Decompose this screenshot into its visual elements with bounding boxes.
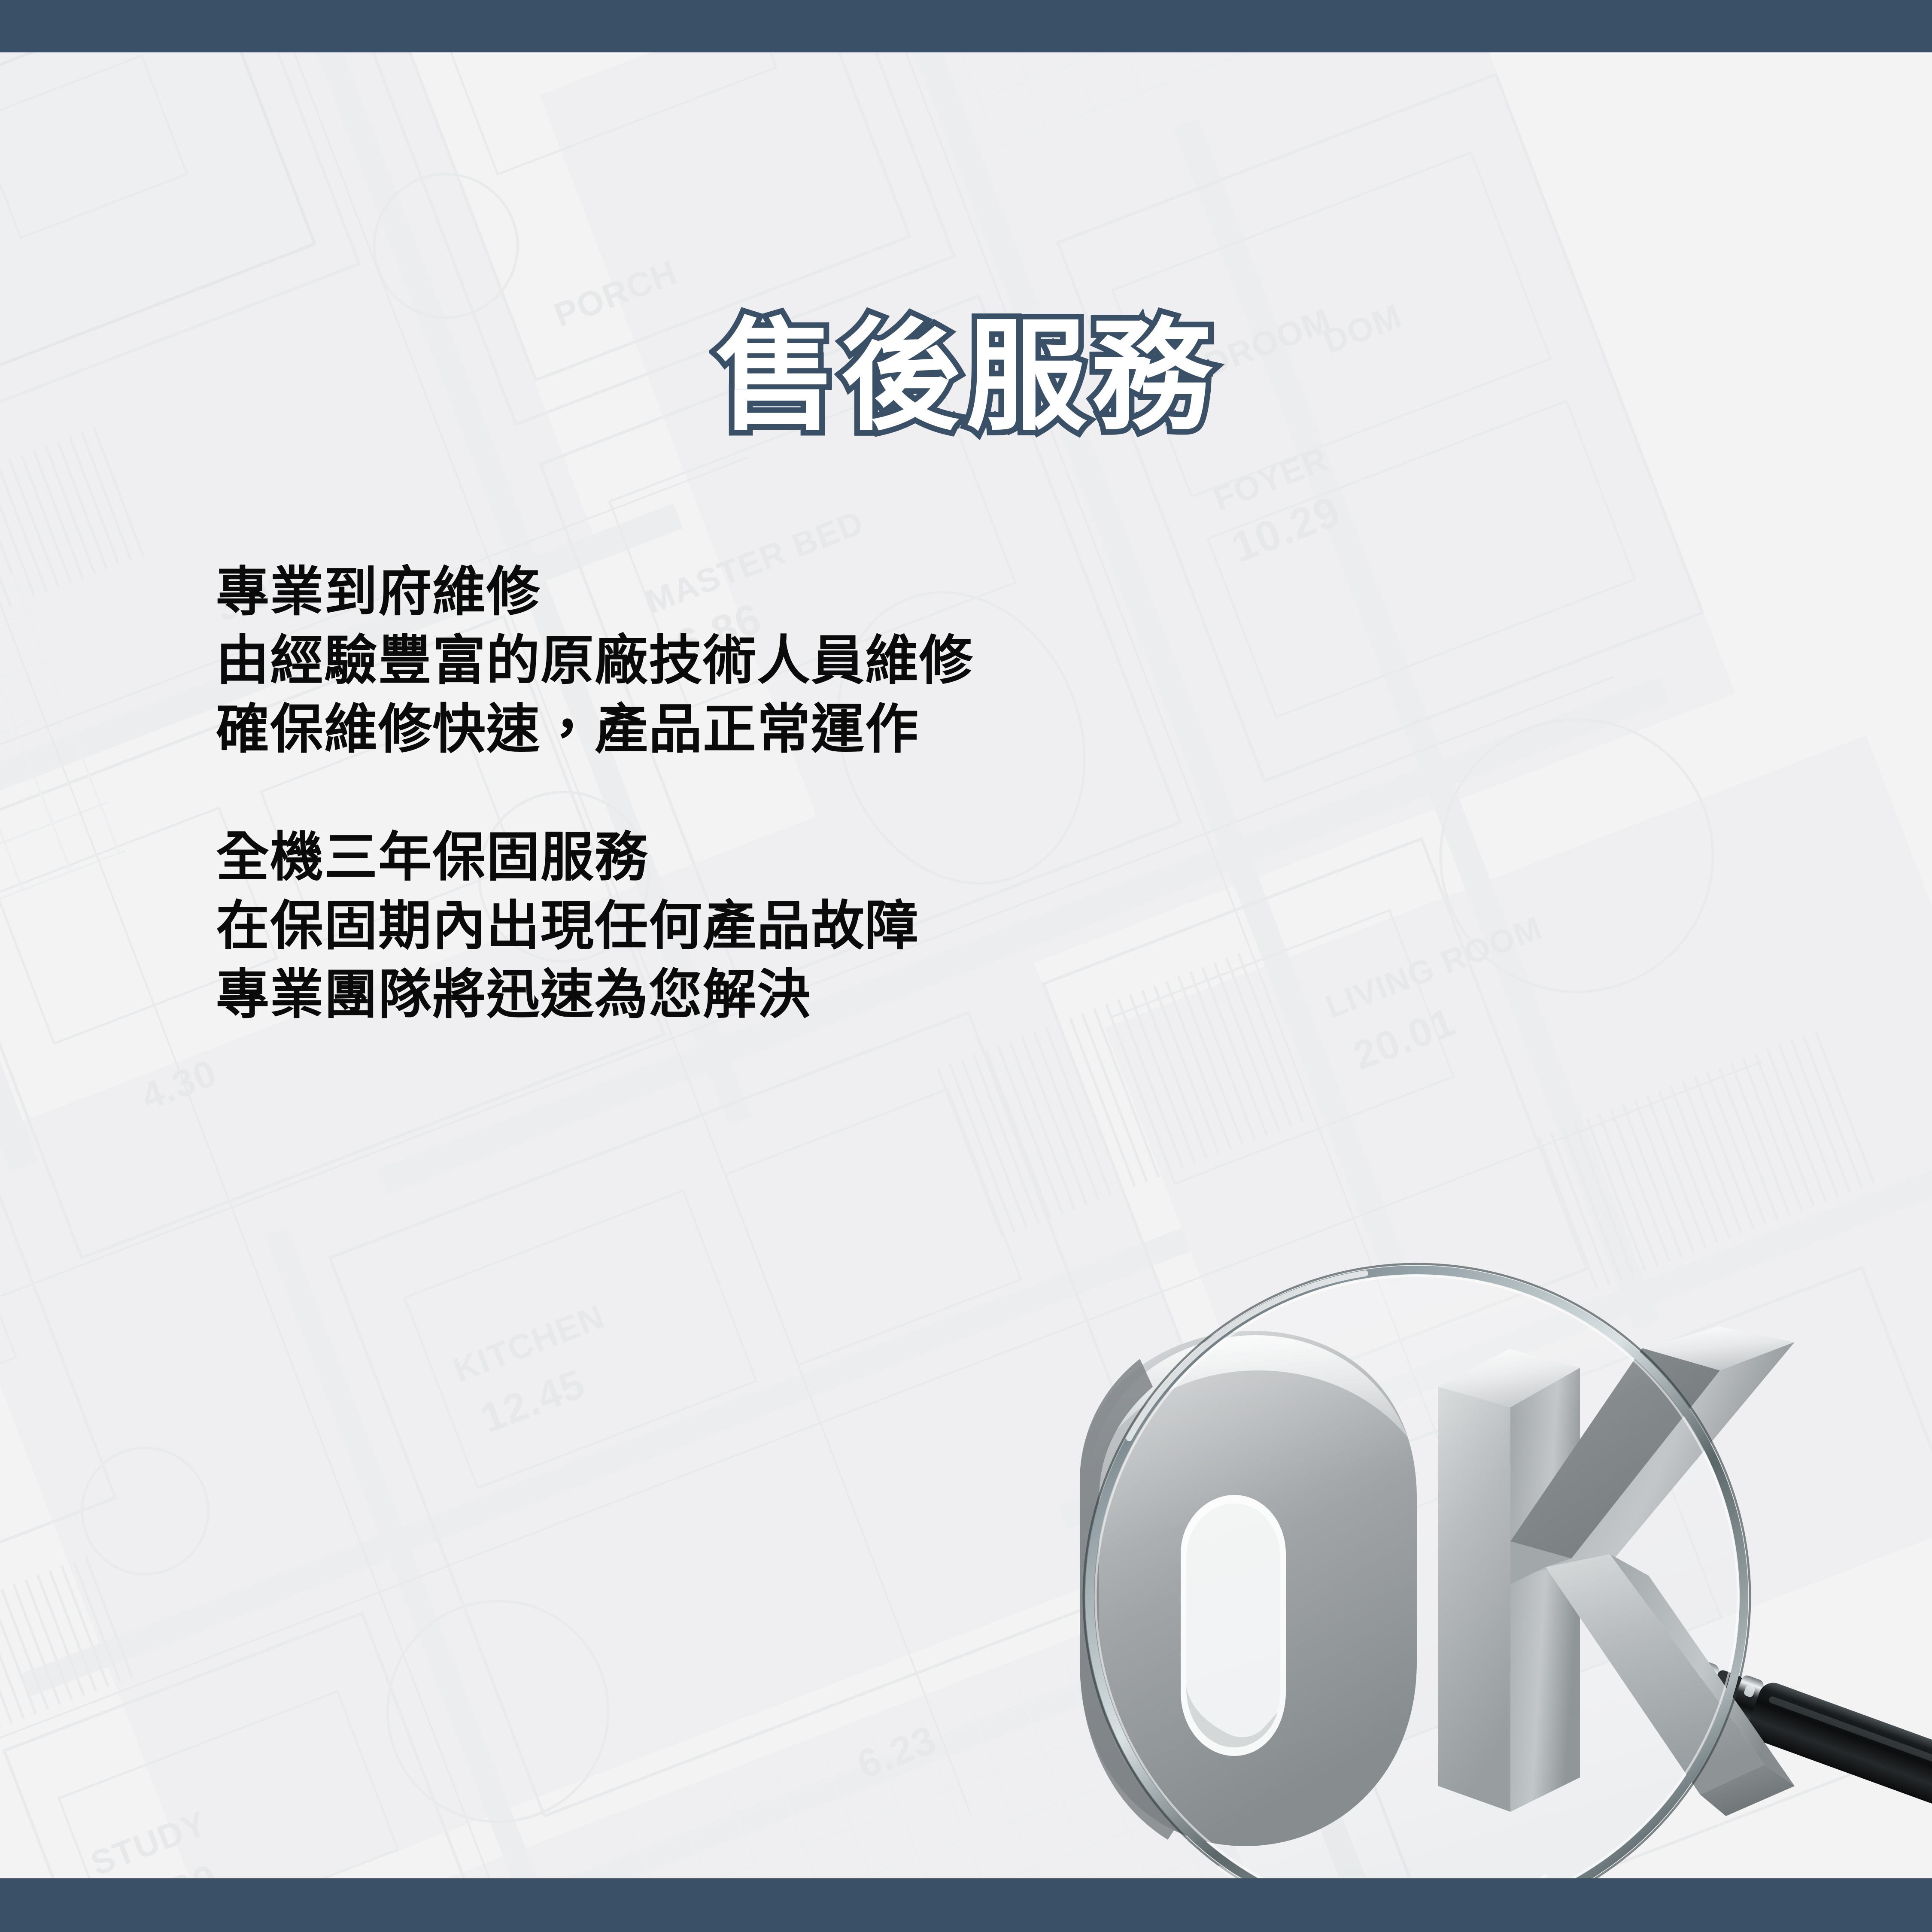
page-title: 售後服務: [715, 311, 1217, 442]
text-line: 全機三年保固服務: [216, 823, 1590, 892]
magnifier-ok-svg: [1039, 1258, 1932, 1932]
paragraph-onsite-repair: 專業到府維修 由經驗豐富的原廠技術人員維修 確保維修快速，產品正常運作: [216, 558, 1590, 764]
body-content: 專業到府維修 由經驗豐富的原廠技術人員維修 確保維修快速，產品正常運作 全機三年…: [216, 558, 1590, 1030]
text-line: 在保固期內出現任何產品故障: [216, 892, 1590, 961]
text-line: 由經驗豐富的原廠技術人員維修: [216, 627, 1590, 696]
poster-canvas: GARAGE MASTER BED 6.86 BEDROOM FOYER 10.…: [0, 0, 1932, 1932]
text-line: 確保維修快速，產品正常運作: [216, 696, 1590, 764]
text-line: 專業到府維修: [216, 558, 1590, 627]
top-accent-bar: [0, 0, 1932, 52]
paragraph-three-year-warranty: 全機三年保固服務 在保固期內出現任何產品故障 專業團隊將迅速為您解決: [216, 823, 1590, 1030]
magnifier-ok-illustration: [1039, 1258, 1932, 1932]
bottom-accent-bar: [0, 1878, 1932, 1932]
page-title-container: 售後服務: [0, 311, 1932, 442]
magnifier-lens: [1084, 1264, 1750, 1930]
text-line: 專業團隊將迅速為您解決: [216, 961, 1590, 1030]
